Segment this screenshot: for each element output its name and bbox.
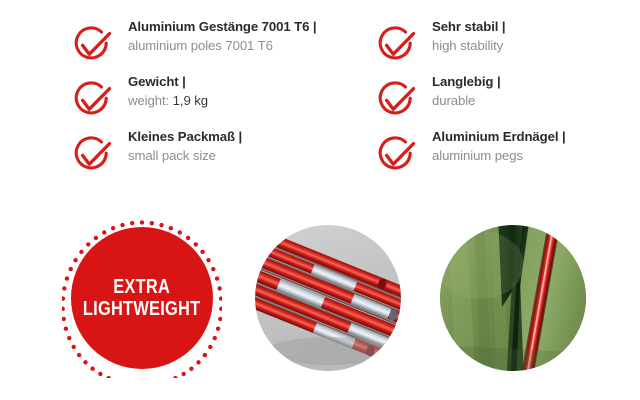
feature-subtitle: aluminium poles 7001 T6	[128, 37, 366, 54]
badge-line-2: LIGHTWEIGHT	[83, 298, 200, 320]
feature-title: Aluminium Erdnägel |	[432, 128, 640, 145]
extra-lightweight-badge: EXTRA LIGHTWEIGHT	[62, 218, 222, 378]
check-circle-icon	[70, 24, 112, 66]
aluminium-poles-photo	[255, 225, 401, 371]
feature-item: Kleines Packmaß | small pack size	[66, 128, 366, 183]
badge-text: EXTRA LIGHTWEIGHT	[83, 276, 200, 320]
feature-subtitle: high stability	[432, 37, 640, 54]
feature-title: Sehr stabil |	[432, 18, 640, 35]
feature-column-right: Sehr stabil | high stability Langlebig |…	[370, 18, 640, 183]
feature-subtitle-prefix: weight:	[128, 93, 173, 108]
feature-subtitle: aluminium pegs	[432, 147, 640, 164]
feature-item: Sehr stabil | high stability	[370, 18, 640, 73]
green-tent-photo	[440, 225, 586, 371]
feature-subtitle: small pack size	[128, 147, 366, 164]
feature-title: Kleines Packmaß |	[128, 128, 366, 145]
check-circle-icon	[374, 134, 416, 176]
feature-subtitle: weight: 1,9 kg	[128, 92, 366, 109]
feature-subtitle: durable	[432, 92, 640, 109]
feature-subtitle-value: 1,9 kg	[173, 93, 208, 108]
feature-item: Gewicht | weight: 1,9 kg	[66, 73, 366, 128]
check-circle-icon	[374, 79, 416, 121]
feature-column-left: Aluminium Gestänge 7001 T6 | aluminium p…	[66, 18, 366, 183]
check-circle-icon	[70, 134, 112, 176]
feature-title: Langlebig |	[432, 73, 640, 90]
check-circle-icon	[70, 79, 112, 121]
media-row: EXTRA LIGHTWEIGHT	[0, 200, 640, 400]
badge-disc: EXTRA LIGHTWEIGHT	[71, 227, 213, 369]
feature-title: Gewicht |	[128, 73, 366, 90]
feature-list: Aluminium Gestänge 7001 T6 | aluminium p…	[0, 0, 640, 200]
feature-item: Aluminium Erdnägel | aluminium pegs	[370, 128, 640, 183]
badge-line-1: EXTRA	[83, 276, 200, 298]
feature-item: Langlebig | durable	[370, 73, 640, 128]
feature-item: Aluminium Gestänge 7001 T6 | aluminium p…	[66, 18, 366, 73]
feature-title: Aluminium Gestänge 7001 T6 |	[128, 18, 366, 35]
check-circle-icon	[374, 24, 416, 66]
